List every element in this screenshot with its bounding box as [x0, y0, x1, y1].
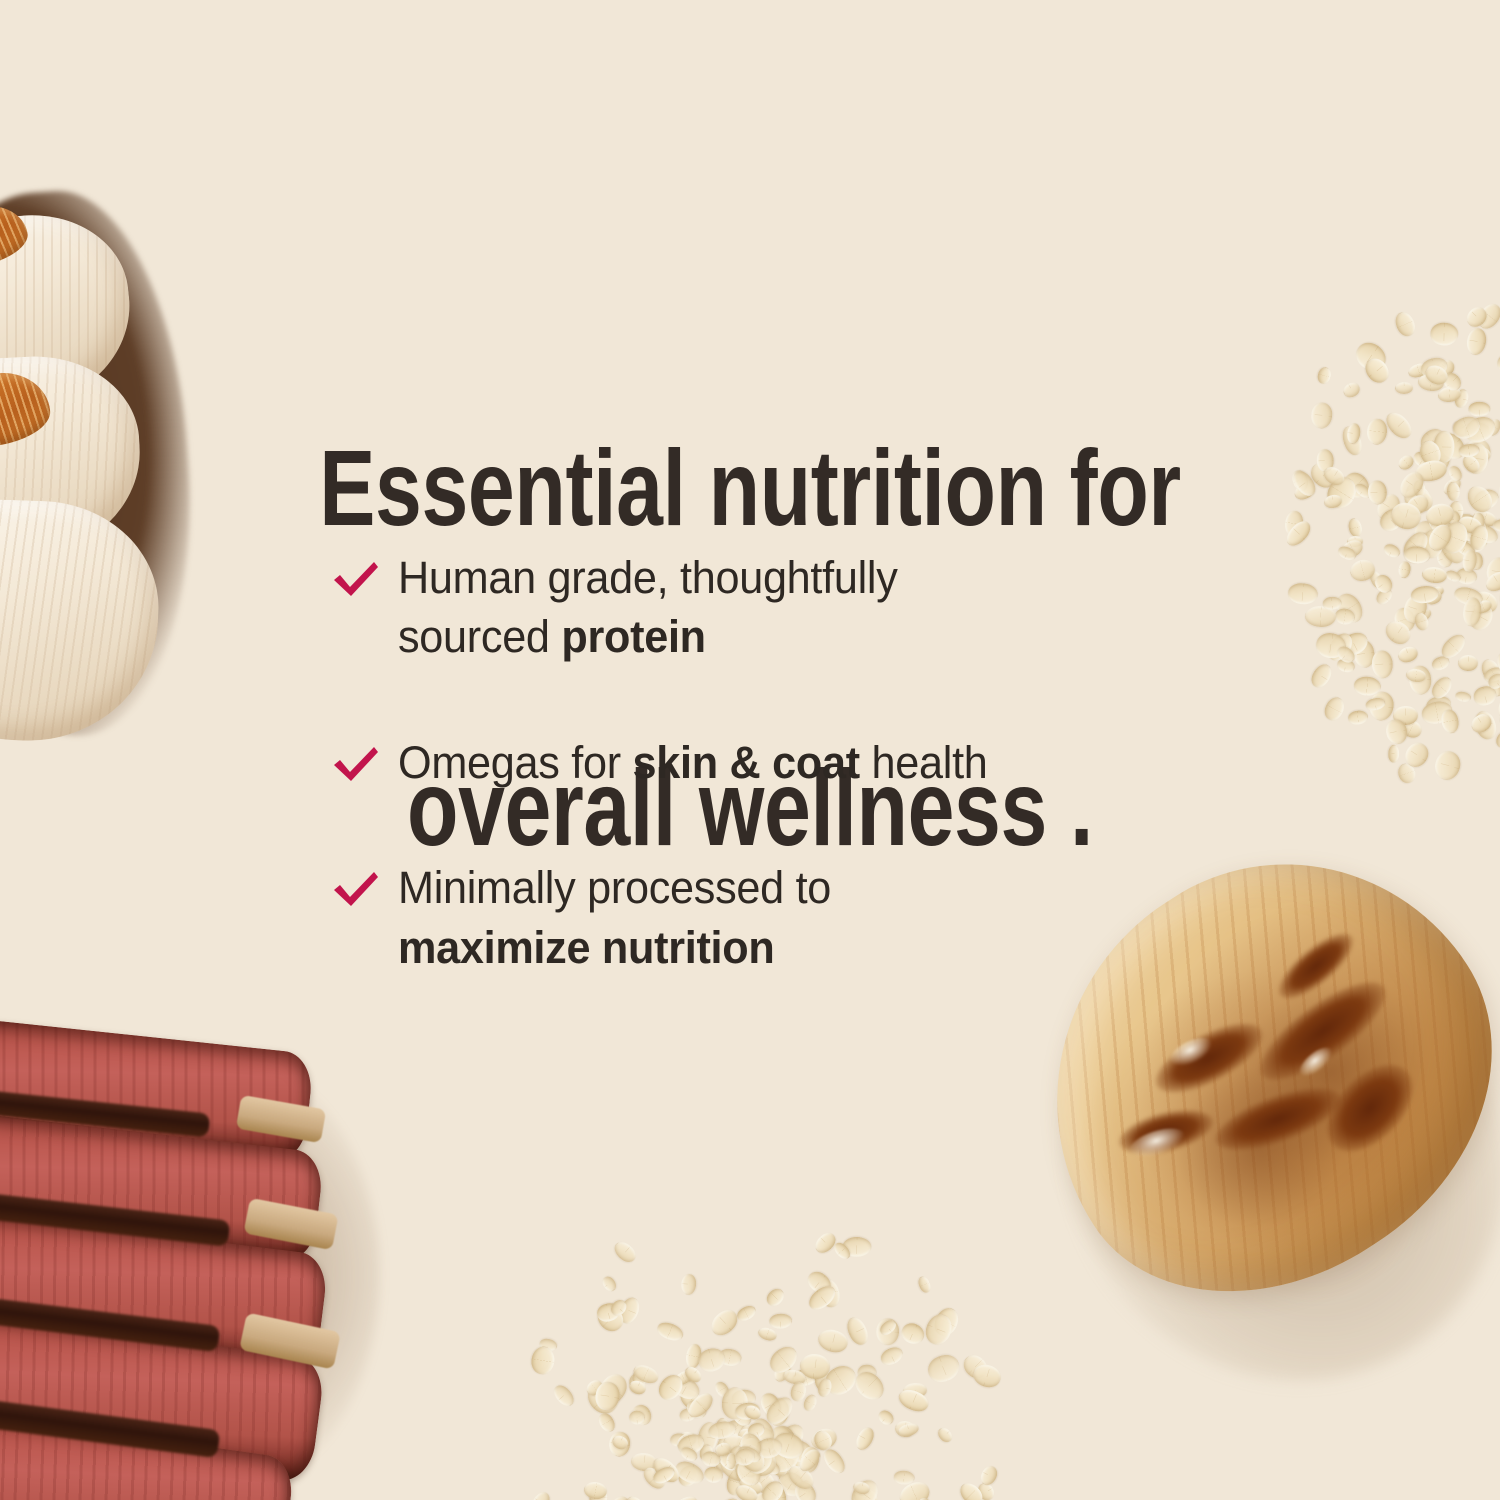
oat-flake — [1455, 691, 1473, 703]
headline-line-1: Essential nutrition for — [165, 408, 1335, 568]
oat-flake — [1468, 402, 1491, 417]
oat-flake — [671, 1493, 700, 1500]
list-item-label: Omegas for skin & coat health — [398, 733, 988, 792]
oat-flake — [599, 1273, 618, 1293]
oat-flake — [1465, 326, 1488, 356]
sliced-beef-photo — [0, 1010, 470, 1500]
oat-flake — [680, 1273, 696, 1295]
checkmark-icon — [330, 864, 382, 916]
oat-flake — [769, 1314, 793, 1330]
oat-flake — [622, 1493, 650, 1500]
oat-flake — [1439, 708, 1460, 735]
oat-flake — [1388, 745, 1399, 763]
oat-flake — [1347, 709, 1369, 725]
oat-flake — [1396, 644, 1420, 665]
oat-flake — [1371, 649, 1394, 679]
bullet-3-emphasis: maximize nutrition — [398, 922, 774, 973]
list-item-label: Minimally processed tomaximize nutrition — [398, 858, 831, 977]
oat-flake — [1495, 352, 1500, 376]
list-item: Minimally processed tomaximize nutrition — [330, 858, 1210, 977]
oat-flake — [853, 1424, 878, 1453]
oat-flake — [736, 1303, 759, 1324]
oat-flake — [1432, 748, 1463, 782]
benefits-list: Human grade, thoughtfullysourced protein… — [330, 548, 1210, 977]
oat-flake — [1392, 309, 1418, 339]
oat-flake — [1381, 542, 1402, 560]
oat-flake — [763, 1285, 787, 1309]
oat-flake — [924, 1350, 963, 1387]
oat-flake — [1430, 323, 1459, 346]
rolled-oats-photo-bottom-center — [548, 1118, 968, 1500]
bullet-1-line2: sourced — [398, 611, 561, 662]
oat-flake — [596, 1410, 618, 1434]
promotional-banner: Essential nutrition for overall wellness… — [0, 0, 1500, 1500]
bullet-3-line1: Minimally processed to — [398, 862, 831, 913]
list-item-label: Human grade, thoughtfullysourced protein — [398, 548, 898, 667]
oat-flake — [1366, 419, 1388, 446]
oat-flake — [706, 1305, 742, 1341]
bullet-2-emphasis: skin & coat — [633, 737, 860, 788]
oat-flake — [611, 1238, 640, 1266]
oat-flake — [935, 1425, 955, 1445]
oat-flake — [878, 1344, 906, 1369]
oat-flake — [850, 1367, 889, 1406]
checkmark-icon — [330, 739, 382, 791]
list-item: Omegas for skin & coat health — [330, 733, 1210, 792]
oat-flake — [1347, 516, 1364, 537]
oat-flake — [1398, 560, 1412, 578]
oat-flake — [1458, 655, 1478, 671]
bullet-2-tail: health — [860, 737, 988, 788]
list-item: Human grade, thoughtfullysourced protein — [330, 548, 1210, 667]
checkmark-icon — [330, 554, 382, 606]
oat-flake — [528, 1489, 554, 1500]
oat-flake — [583, 1480, 608, 1500]
bullet-1-line1: Human grade, thoughtfully — [398, 552, 898, 603]
oat-flake — [1341, 379, 1363, 400]
oat-flake — [916, 1275, 933, 1295]
oat-flake — [1395, 382, 1414, 395]
bullet-2-line1: Omegas for — [398, 737, 633, 788]
oat-flake — [876, 1407, 897, 1427]
oat-flake — [898, 1320, 927, 1347]
oat-flake — [815, 1327, 850, 1356]
oat-flake — [1463, 482, 1497, 517]
bullet-1-emphasis: protein — [561, 611, 705, 662]
oat-flake — [1382, 408, 1416, 443]
oat-flake — [550, 1381, 577, 1409]
oat-flake — [1421, 566, 1447, 584]
oat-flake — [655, 1320, 685, 1344]
